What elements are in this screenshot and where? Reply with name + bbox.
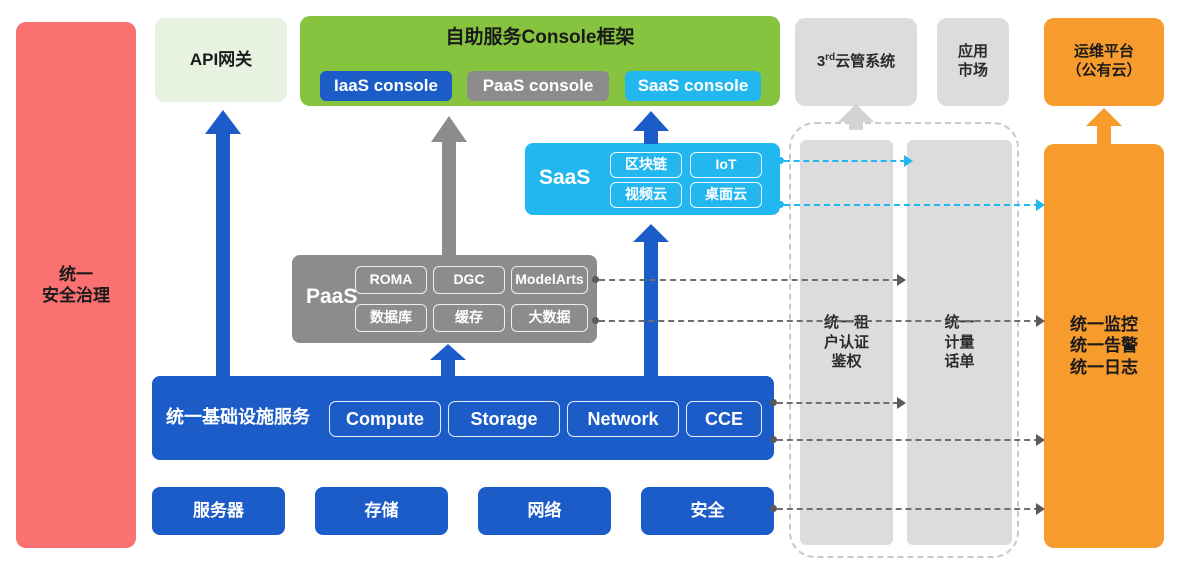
gray-line-origin-dot-paas-2 xyxy=(592,317,599,324)
gray-dashed-line-paas-to-auth xyxy=(599,279,899,281)
gray-arrowhead-hardware xyxy=(1036,503,1045,515)
gray-arrowhead-paas-2 xyxy=(1036,315,1045,327)
gray-arrowhead-paas-1 xyxy=(897,274,906,286)
gray-dashed-line-infra-to-ops xyxy=(777,439,1040,441)
arrow-infra-to-api-gateway xyxy=(205,110,241,376)
arrow-shared-to-third-cloud xyxy=(838,104,874,130)
cyan-dashed-line-saas-to-metering xyxy=(784,160,906,162)
arrow-infra-to-paas xyxy=(430,344,466,377)
cyan-line-origin-dot-2 xyxy=(777,201,784,208)
gray-line-origin-dot-hardware xyxy=(770,505,777,512)
gray-arrowhead-infra-1 xyxy=(897,397,906,409)
cyan-arrowhead-2 xyxy=(1036,199,1045,211)
gray-dashed-line-paas-to-ops xyxy=(599,320,1040,322)
arrow-paas-to-console xyxy=(431,116,467,256)
gray-line-origin-dot-paas-1 xyxy=(592,276,599,283)
gray-line-origin-dot-infra-1 xyxy=(770,399,777,406)
gray-line-origin-dot-infra-2 xyxy=(770,436,777,443)
cyan-line-origin-dot-1 xyxy=(777,157,784,164)
arrow-infra-to-saas xyxy=(633,224,669,376)
gray-dashed-line-infra-to-auth xyxy=(777,402,899,404)
arrow-layer xyxy=(0,0,1200,574)
gray-dashed-line-hardware-to-ops xyxy=(777,508,1040,510)
cyan-dashed-line-saas-to-ops xyxy=(784,204,1040,206)
gray-arrowhead-infra-2 xyxy=(1036,434,1045,446)
architecture-diagram: 统一安全治理 API网关 自助服务Console框架 IaaS console … xyxy=(0,0,1200,574)
cyan-arrowhead-1 xyxy=(904,155,913,167)
arrow-ops-column-to-header xyxy=(1086,108,1122,144)
arrow-saas-to-console xyxy=(633,111,669,144)
